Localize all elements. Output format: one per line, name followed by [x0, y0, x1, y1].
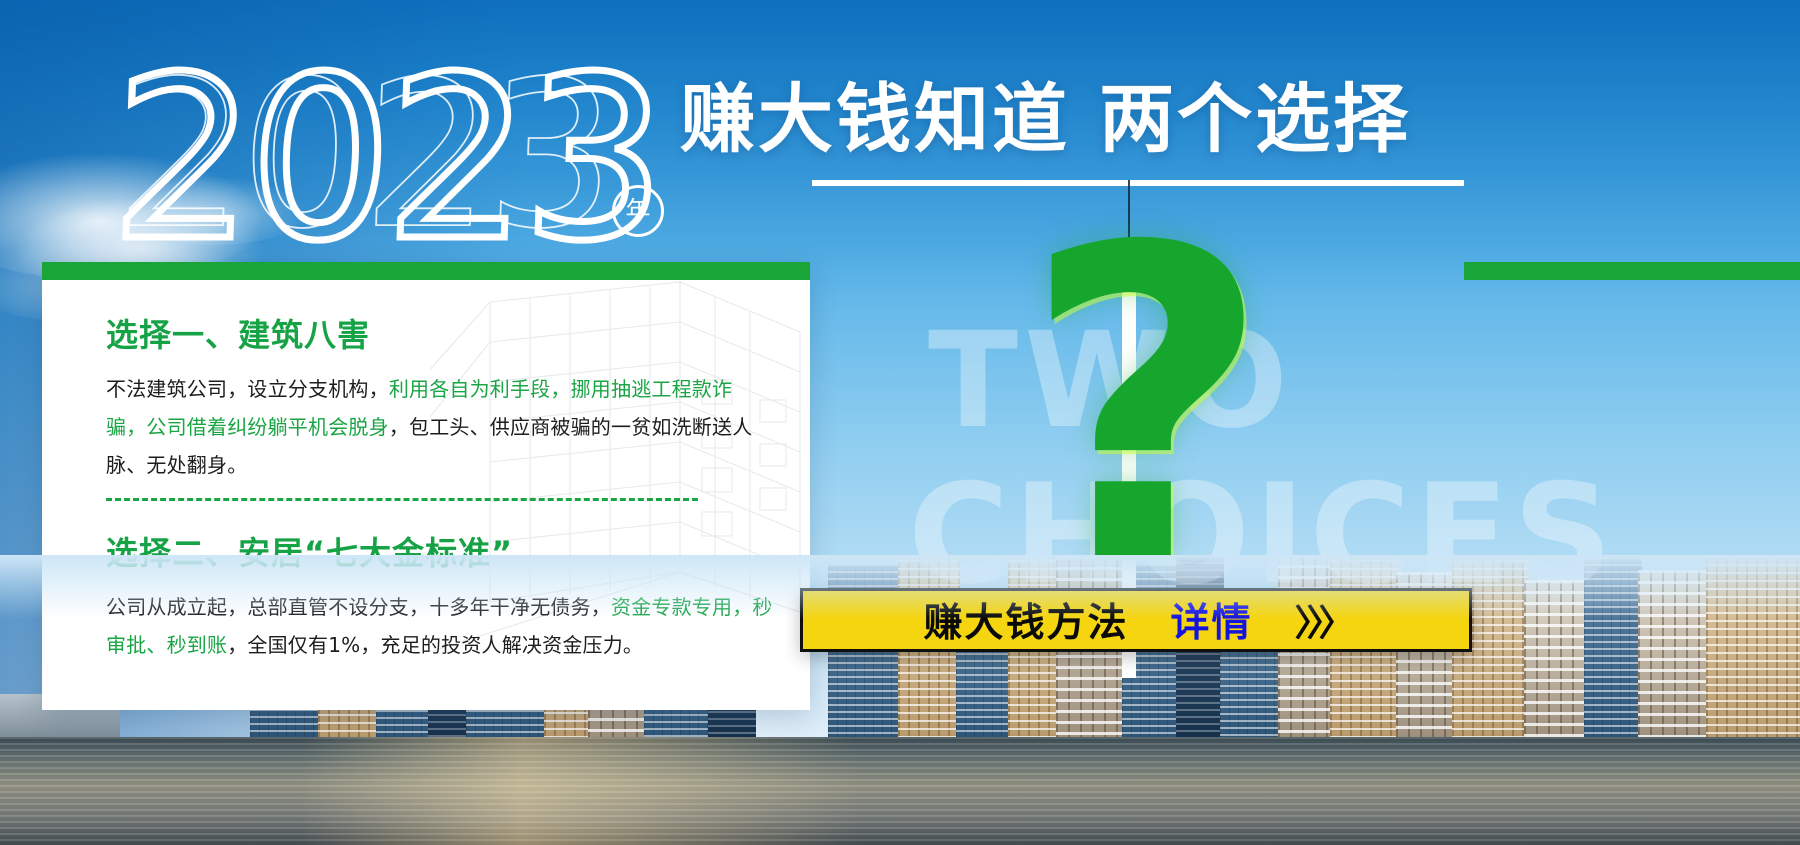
- section-divider: [106, 498, 698, 501]
- year-graphic: 2023 2023: [112, 58, 712, 268]
- year-unit-badge: 年: [612, 185, 664, 237]
- year-number-inner-outline: 2023: [114, 64, 614, 249]
- section-one-body: 不法建筑公司，设立分支机构，利用各自为利手段，挪用抽逃工程款诈骗，公司借着纠纷躺…: [106, 370, 766, 484]
- building-shape: [1638, 570, 1710, 740]
- card-section-two: 选择二、安居“七大金标准” 公司从成立起，总部直管不设分支，十多年干净无债务，资…: [106, 532, 778, 664]
- body-run: 不法建筑公司，设立分支机构，: [106, 377, 389, 401]
- content-card: 选择一、建筑八害 不法建筑公司，设立分支机构，利用各自为利手段，挪用抽逃工程款诈…: [42, 262, 810, 710]
- right-accent-bar: [1464, 262, 1800, 280]
- body-run: ，全国仅有1%，充足的投资人解决资金压力。: [227, 633, 643, 657]
- page-title: 赚大钱知道 两个选择: [680, 78, 1411, 160]
- cta-button[interactable]: 赚大钱方法 详情 〉〉〉: [800, 588, 1472, 652]
- section-two-body: 公司从成立起，总部直管不设分支，十多年干净无债务，资金专款专用，秒审批、秒到账，…: [106, 588, 778, 664]
- water-shimmer: [0, 737, 1800, 845]
- chevron-right-icon: 〉〉〉: [1295, 594, 1349, 646]
- section-two-title: 选择二、安居“七大金标准”: [106, 532, 778, 574]
- water-reflection: [0, 737, 1800, 845]
- building-shape: [1706, 555, 1800, 740]
- section-one-title: 选择一、建筑八害: [106, 314, 766, 356]
- card-section-one: 选择一、建筑八害 不法建筑公司，设立分支机构，利用各自为利手段，挪用抽逃工程款诈…: [106, 314, 766, 484]
- cta-label: 赚大钱方法: [923, 592, 1128, 648]
- poster-root: 2023 2023 年 赚大钱知道 两个选择 TWO CHOICES ?: [0, 0, 1800, 845]
- water-warm-glow: [300, 737, 860, 845]
- cta-detail-link[interactable]: 详情: [1170, 592, 1252, 648]
- question-mark-icon: ?: [1022, 218, 1271, 598]
- body-run: 公司从成立起，总部直管不设分支，十多年干净无债务，: [106, 595, 611, 619]
